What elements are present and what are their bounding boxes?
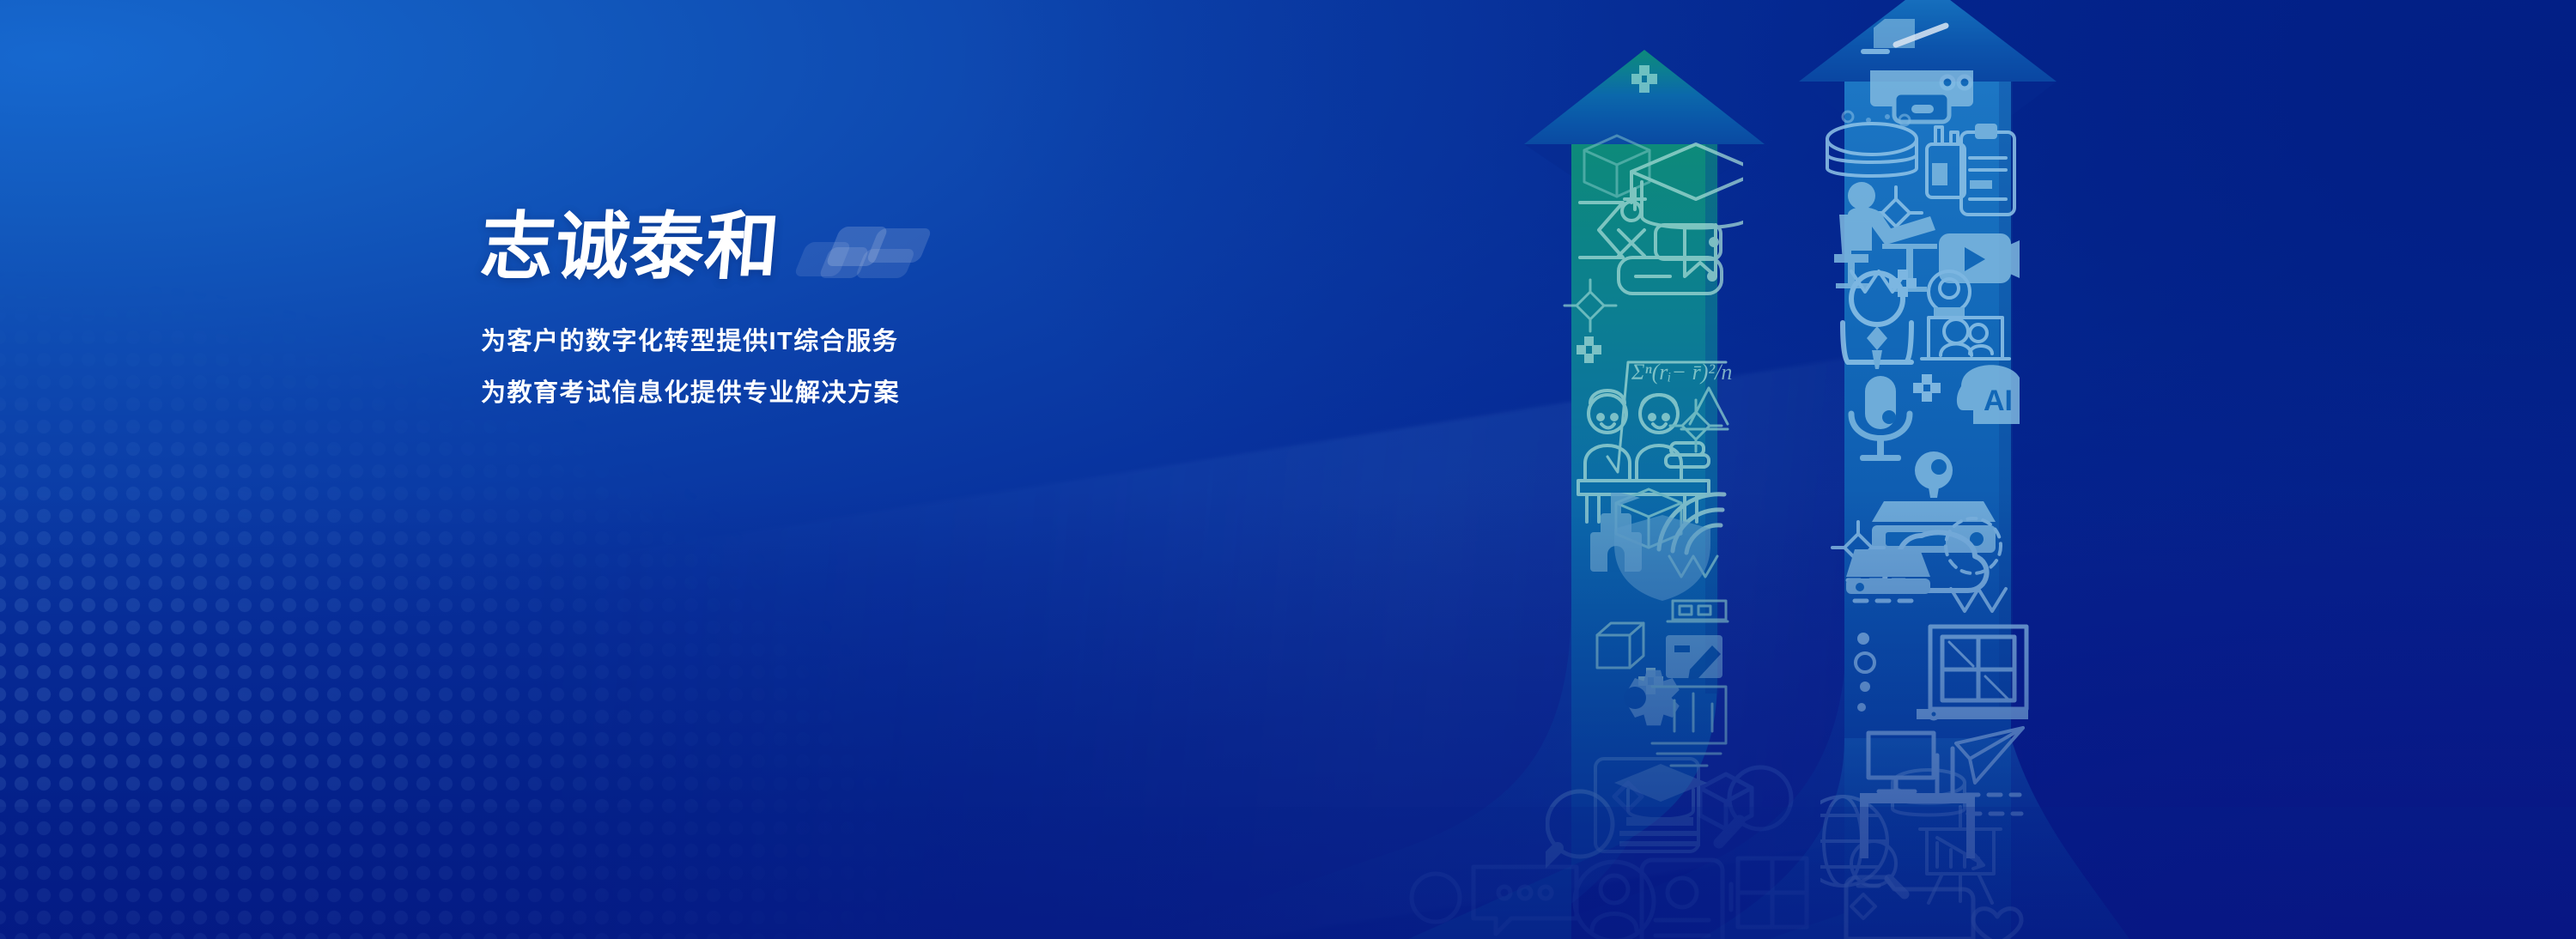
tagline-group: 为客户的数字化转型提供IT综合服务 为教育考试信息化提供专业解决方案 [481, 330, 936, 406]
hero-banner: Σⁿ(rᵢ− r̄)²/n [0, 0, 2576, 939]
tagline-line-1: 为客户的数字化转型提供IT综合服务 [481, 330, 936, 354]
tagline-line-2: 为教育考试信息化提供专业解决方案 [481, 381, 936, 406]
brand-row: 志诚泰和 [481, 203, 936, 292]
background-bottom-fade [0, 0, 2576, 939]
hero-copy: 志诚泰和 为客户的数字化转型提供IT综合服务 为教育考试信息化提供专业解决方案 [481, 203, 936, 406]
logo-shape-5 [854, 249, 916, 278]
parallelogram-logo-mark [799, 225, 936, 280]
page-title: 志诚泰和 [477, 203, 783, 292]
